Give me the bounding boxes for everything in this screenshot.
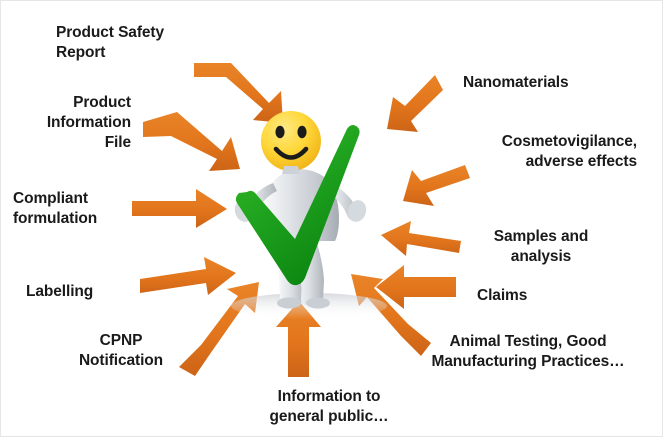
arrow-samples-and-analysis xyxy=(381,221,461,256)
foot-right xyxy=(306,298,330,309)
label-cpnp-notification: CPNP Notification xyxy=(56,331,186,371)
arrow-labelling xyxy=(140,257,236,295)
arrow-nanomaterials xyxy=(387,75,443,132)
label-nanomaterials: Nanomaterials xyxy=(463,73,613,93)
neck xyxy=(282,166,300,174)
eye-right xyxy=(297,126,306,138)
eye-left xyxy=(275,126,284,138)
head-smiley xyxy=(261,111,321,171)
label-labelling: Labelling xyxy=(26,282,136,302)
foot-left xyxy=(277,298,301,309)
arrow-product-information-file xyxy=(143,112,240,171)
diagram-canvas: Product Safety Report Product Informatio… xyxy=(0,0,663,437)
arrow-cpnp-notification xyxy=(179,282,259,376)
label-animal-testing-gmp: Animal Testing, Good Manufacturing Pract… xyxy=(410,332,646,372)
label-information-general-public: Information to general public… xyxy=(249,387,409,427)
label-product-safety-report: Product Safety Report xyxy=(56,23,216,63)
label-compliant-formulation: Compliant formulation xyxy=(13,189,143,229)
arrow-claims xyxy=(376,265,456,309)
center-figure xyxy=(232,111,369,309)
arrow-product-safety-report xyxy=(194,63,283,123)
label-claims: Claims xyxy=(477,286,577,306)
arrow-compliant-formulation xyxy=(132,189,227,228)
label-samples-and-analysis: Samples and analysis xyxy=(471,227,611,267)
label-cosmetovigilance-adverse-effects: Cosmetovigilance, adverse effects xyxy=(441,132,637,172)
label-product-information-file: Product Information File xyxy=(9,93,131,152)
